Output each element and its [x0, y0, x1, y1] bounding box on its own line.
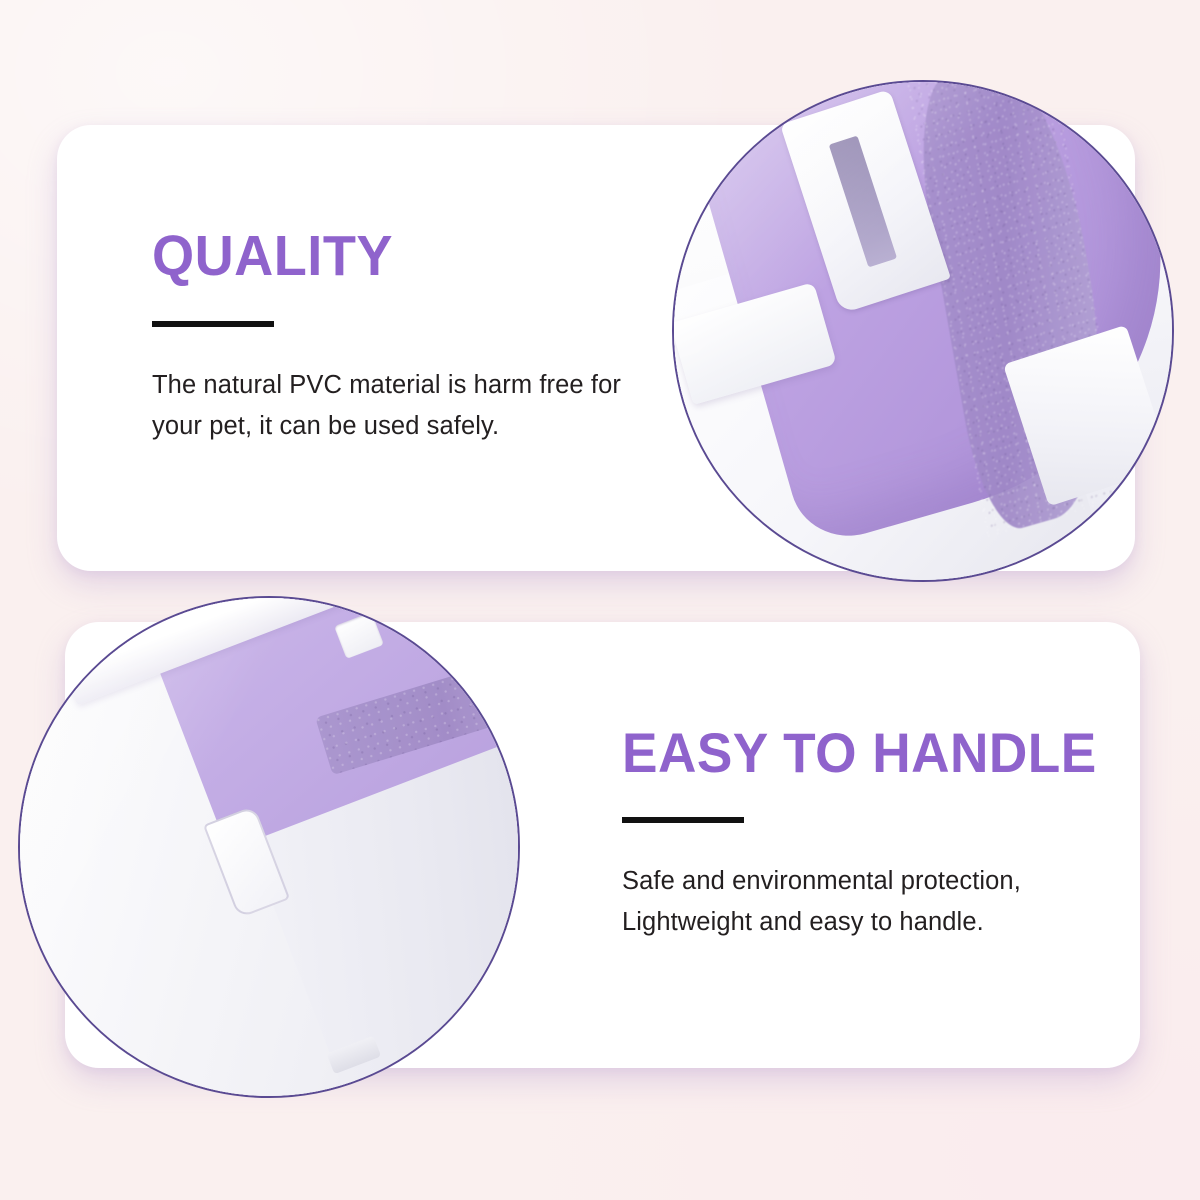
- infographic-canvas: QUALITY The natural PVC material is harm…: [0, 0, 1200, 1200]
- photo-inner-easy-to-handle: [20, 598, 518, 1096]
- feature-description-easy-to-handle: Safe and environmental protection, Light…: [622, 861, 1142, 944]
- feature-title-quality: QUALITY: [152, 228, 646, 285]
- title-divider-rule-easy-to-handle: [622, 817, 744, 823]
- feature-title-easy-to-handle: EASY TO HANDLE: [622, 725, 1116, 781]
- product-lid-closeup-photo: [672, 80, 1174, 582]
- feature-description-quality: The natural PVC material is harm free fo…: [152, 365, 672, 448]
- feature-text-quality: QUALITY The natural PVC material is harm…: [152, 228, 672, 448]
- feature-text-easy-to-handle: EASY TO HANDLE Safe and environmental pr…: [622, 725, 1142, 944]
- title-divider-rule-quality: [152, 321, 274, 327]
- photo-inner-quality: [674, 82, 1172, 580]
- product-corner-closeup-photo: [18, 596, 520, 1098]
